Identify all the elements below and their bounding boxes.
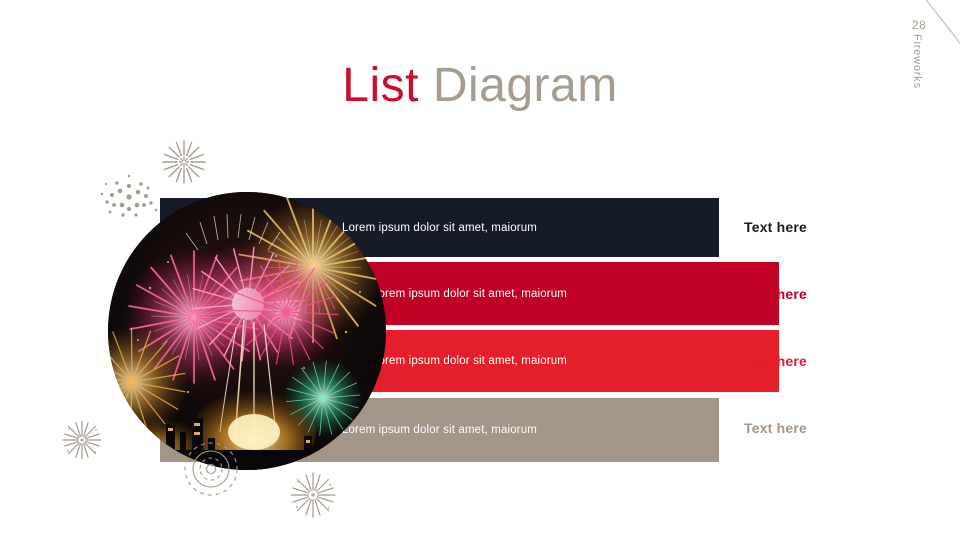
list-item-label[interactable]: Text here (744, 219, 807, 235)
list-item-label[interactable]: Text here (744, 286, 807, 302)
firework-burst-icon (158, 136, 210, 193)
page-title: List Diagram (0, 58, 960, 113)
list-item-text: Lorem ipsum dolor sit amet, maiorum (372, 355, 567, 367)
diagonal-line-icon (918, 0, 960, 79)
section-label: Fireworks (911, 34, 923, 89)
slide-number: 28 (912, 18, 926, 32)
dot-cluster-icon (98, 172, 160, 227)
fireworks-photo-art (108, 192, 386, 470)
list-item-text: Lorem ipsum dolor sit amet, maiorum (372, 288, 567, 300)
firework-burst-icon (286, 468, 340, 527)
fireworks-photo (108, 192, 386, 470)
list-item-text: Lorem ipsum dolor sit amet, maiorum (342, 424, 537, 436)
page-title-rest: Diagram (419, 59, 618, 112)
list-item-text: Lorem ipsum dolor sit amet, maiorum (342, 222, 537, 234)
list-item-label[interactable]: Text here (744, 353, 807, 369)
concentric-rings-icon (182, 440, 240, 503)
firework-burst-icon (58, 416, 106, 469)
list-item-label[interactable]: Text here (744, 420, 807, 436)
corner-marker: 28 Fireworks (890, 0, 960, 130)
page-title-accent: List (342, 59, 419, 112)
slide-canvas: List Diagram 28 Fireworks Lorem ipsum do… (0, 0, 960, 540)
